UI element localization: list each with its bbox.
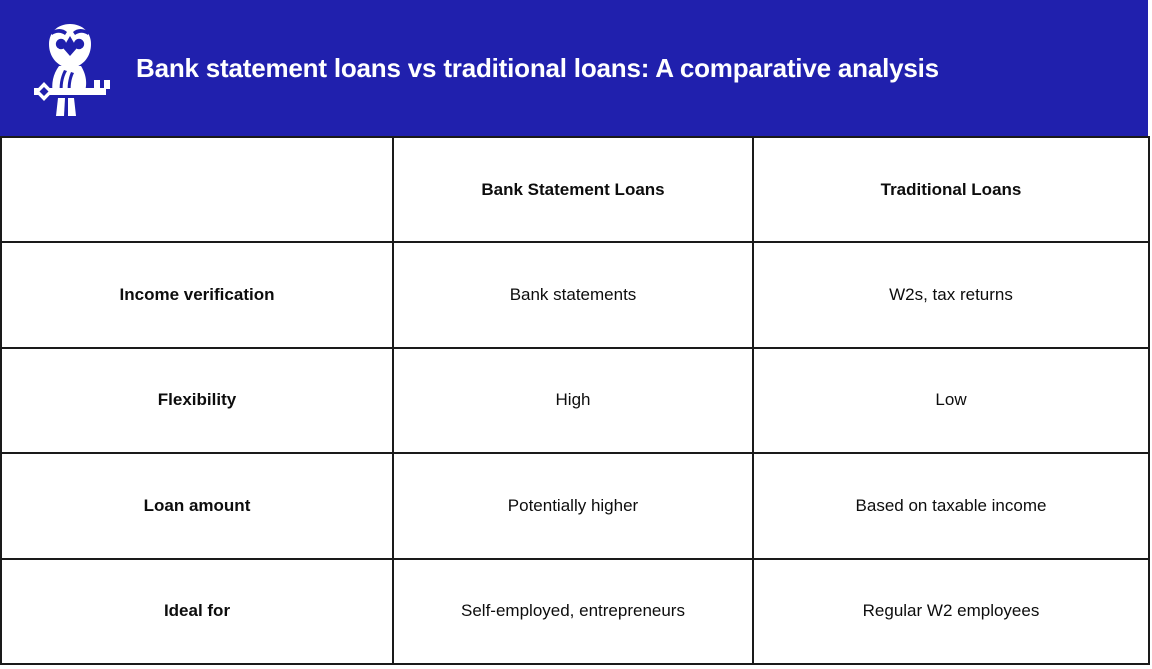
cell-bank-ideal-for: Self-employed, entrepreneurs: [393, 559, 753, 664]
comparison-table-container: Bank Statement Loans Traditional Loans I…: [0, 136, 1148, 665]
page-title: Bank statement loans vs traditional loan…: [136, 53, 939, 84]
row-label-income-verification: Income verification: [1, 242, 393, 347]
table-row: Income verification Bank statements W2s,…: [1, 242, 1149, 347]
cell-bank-income-verification: Bank statements: [393, 242, 753, 347]
row-label-ideal-for: Ideal for: [1, 559, 393, 664]
cell-traditional-income-verification: W2s, tax returns: [753, 242, 1149, 347]
table-header-row: Bank Statement Loans Traditional Loans: [1, 137, 1149, 242]
header-cell-traditional-loans: Traditional Loans: [753, 137, 1149, 242]
table-row: Ideal for Self-employed, entrepreneurs R…: [1, 559, 1149, 664]
table-row: Loan amount Potentially higher Based on …: [1, 453, 1149, 558]
header-cell-bank-statement-loans: Bank Statement Loans: [393, 137, 753, 242]
cell-bank-loan-amount: Potentially higher: [393, 453, 753, 558]
table-row: Flexibility High Low: [1, 348, 1149, 453]
cell-traditional-loan-amount: Based on taxable income: [753, 453, 1149, 558]
owl-on-key-logo-icon: [22, 16, 118, 120]
cell-bank-flexibility: High: [393, 348, 753, 453]
cell-traditional-ideal-for: Regular W2 employees: [753, 559, 1149, 664]
cell-traditional-flexibility: Low: [753, 348, 1149, 453]
header-cell-empty: [1, 137, 393, 242]
row-label-loan-amount: Loan amount: [1, 453, 393, 558]
comparison-table: Bank Statement Loans Traditional Loans I…: [0, 136, 1150, 665]
row-label-flexibility: Flexibility: [1, 348, 393, 453]
header-banner: Bank statement loans vs traditional loan…: [0, 0, 1148, 136]
